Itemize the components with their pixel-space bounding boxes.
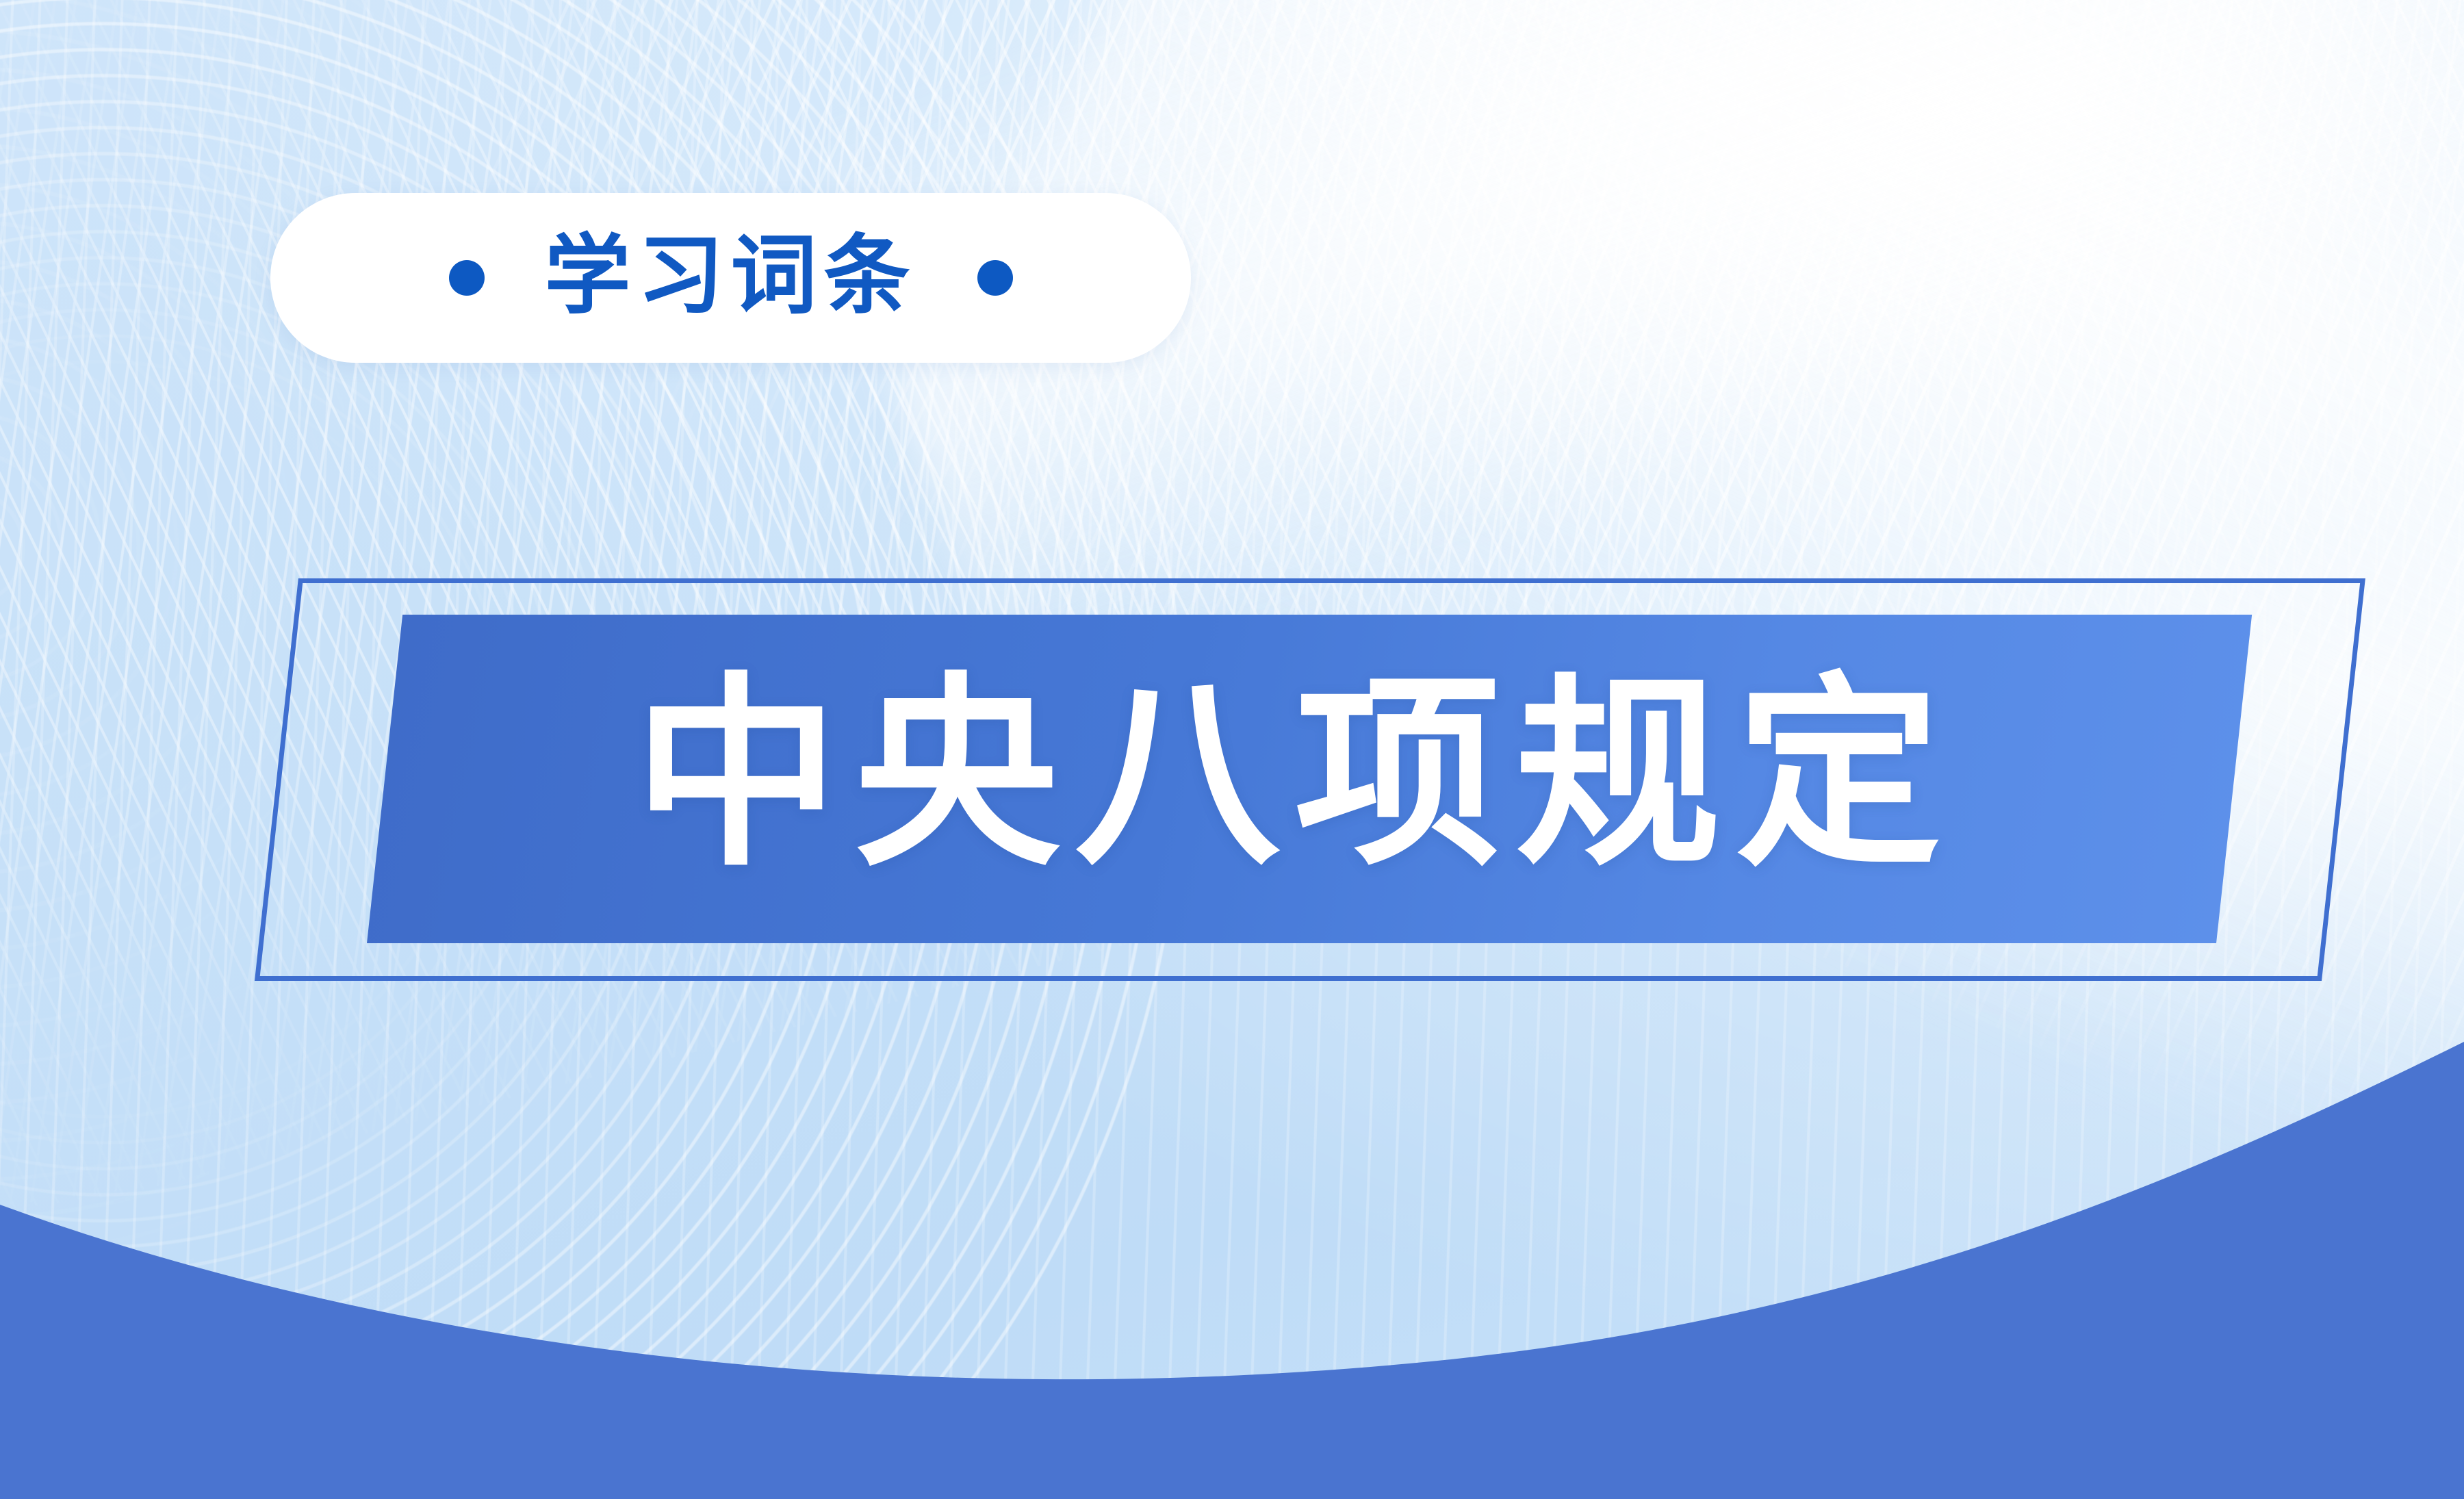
category-badge[interactable]: 学习词条 <box>270 193 1191 363</box>
badge-dot-left-icon <box>449 260 485 296</box>
badge-dot-right-icon <box>977 260 1013 296</box>
title-card-canvas: 学习词条 中央八项规定 <box>0 0 2464 1499</box>
bottom-wave-shape <box>0 979 2464 1499</box>
badge-label: 学习词条 <box>545 233 917 323</box>
